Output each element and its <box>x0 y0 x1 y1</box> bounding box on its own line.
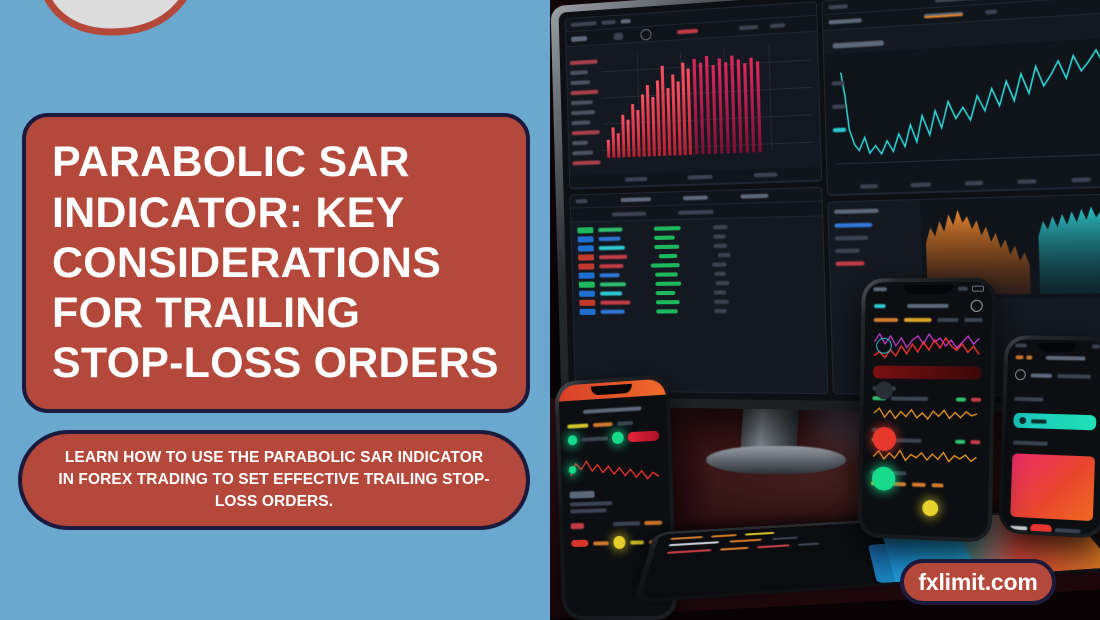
status-dot-yellow <box>613 536 626 549</box>
table-body <box>571 216 825 319</box>
subtitle-text: LEARN HOW TO USE THE PARABOLIC SAR INDIC… <box>22 447 526 513</box>
buy-round-button[interactable] <box>872 466 896 491</box>
battery-icon <box>972 286 984 292</box>
logo-label: fxlimit.com <box>918 569 1037 596</box>
phone-center <box>858 277 997 542</box>
refresh-icon <box>640 28 652 40</box>
phone-notch <box>1038 343 1076 353</box>
button-dot-icon <box>1019 417 1026 424</box>
title-card: PARABOLIC SAR INDICATOR: KEY CONSIDERATI… <box>22 113 530 413</box>
phone-left-content <box>558 378 671 550</box>
sell-button[interactable] <box>571 540 588 547</box>
search-icon[interactable] <box>971 300 983 312</box>
monitor-stand-base <box>706 446 846 474</box>
hand-drawn-ring-icon <box>16 0 214 66</box>
summary-row <box>1007 365 1100 390</box>
clock-icon <box>1015 369 1026 380</box>
phone-center-screen <box>861 281 992 538</box>
candlestick-plot <box>566 32 820 176</box>
watchlist-table-panel <box>569 187 828 394</box>
mini-chart <box>568 452 661 486</box>
ticker-badge <box>1030 524 1052 534</box>
app-header <box>865 292 992 316</box>
alert-dot <box>922 500 938 517</box>
tab-row <box>865 316 992 328</box>
phone-notch <box>904 285 952 294</box>
sub-label <box>1006 388 1100 414</box>
line-chart-plot <box>824 36 1100 181</box>
y-axis-labels <box>831 81 846 133</box>
featured-card <box>1010 453 1095 521</box>
phone-right <box>998 335 1100 539</box>
status-dot-green <box>612 432 624 445</box>
candlestick-chart-panel <box>565 1 823 190</box>
logo-badge[interactable]: fxlimit.com <box>900 559 1056 605</box>
mini-wave <box>872 405 981 423</box>
tag-row <box>567 419 659 428</box>
page-title: PARABOLIC SAR INDICATOR: KEY CONSIDERATI… <box>26 137 526 388</box>
status-dot-green <box>568 435 577 445</box>
poster-canvas: PARABOLIC SAR INDICATOR: KEY CONSIDERATI… <box>0 0 1100 620</box>
line-chart-panel <box>821 0 1100 196</box>
table-row <box>574 305 825 316</box>
value-row <box>571 521 663 530</box>
primary-action-button[interactable] <box>1013 413 1096 431</box>
alert-pill <box>627 431 659 443</box>
red-line-series <box>568 452 661 486</box>
subtitle-card: LEARN HOW TO USE THE PARABOLIC SAR INDIC… <box>18 430 530 530</box>
metric-row <box>568 430 660 447</box>
progress-bar <box>873 366 982 380</box>
cyan-line-series <box>824 36 1100 181</box>
orange-wave-series <box>872 405 981 423</box>
monitor-left-column <box>565 1 829 394</box>
phone-right-screen <box>1002 339 1100 534</box>
